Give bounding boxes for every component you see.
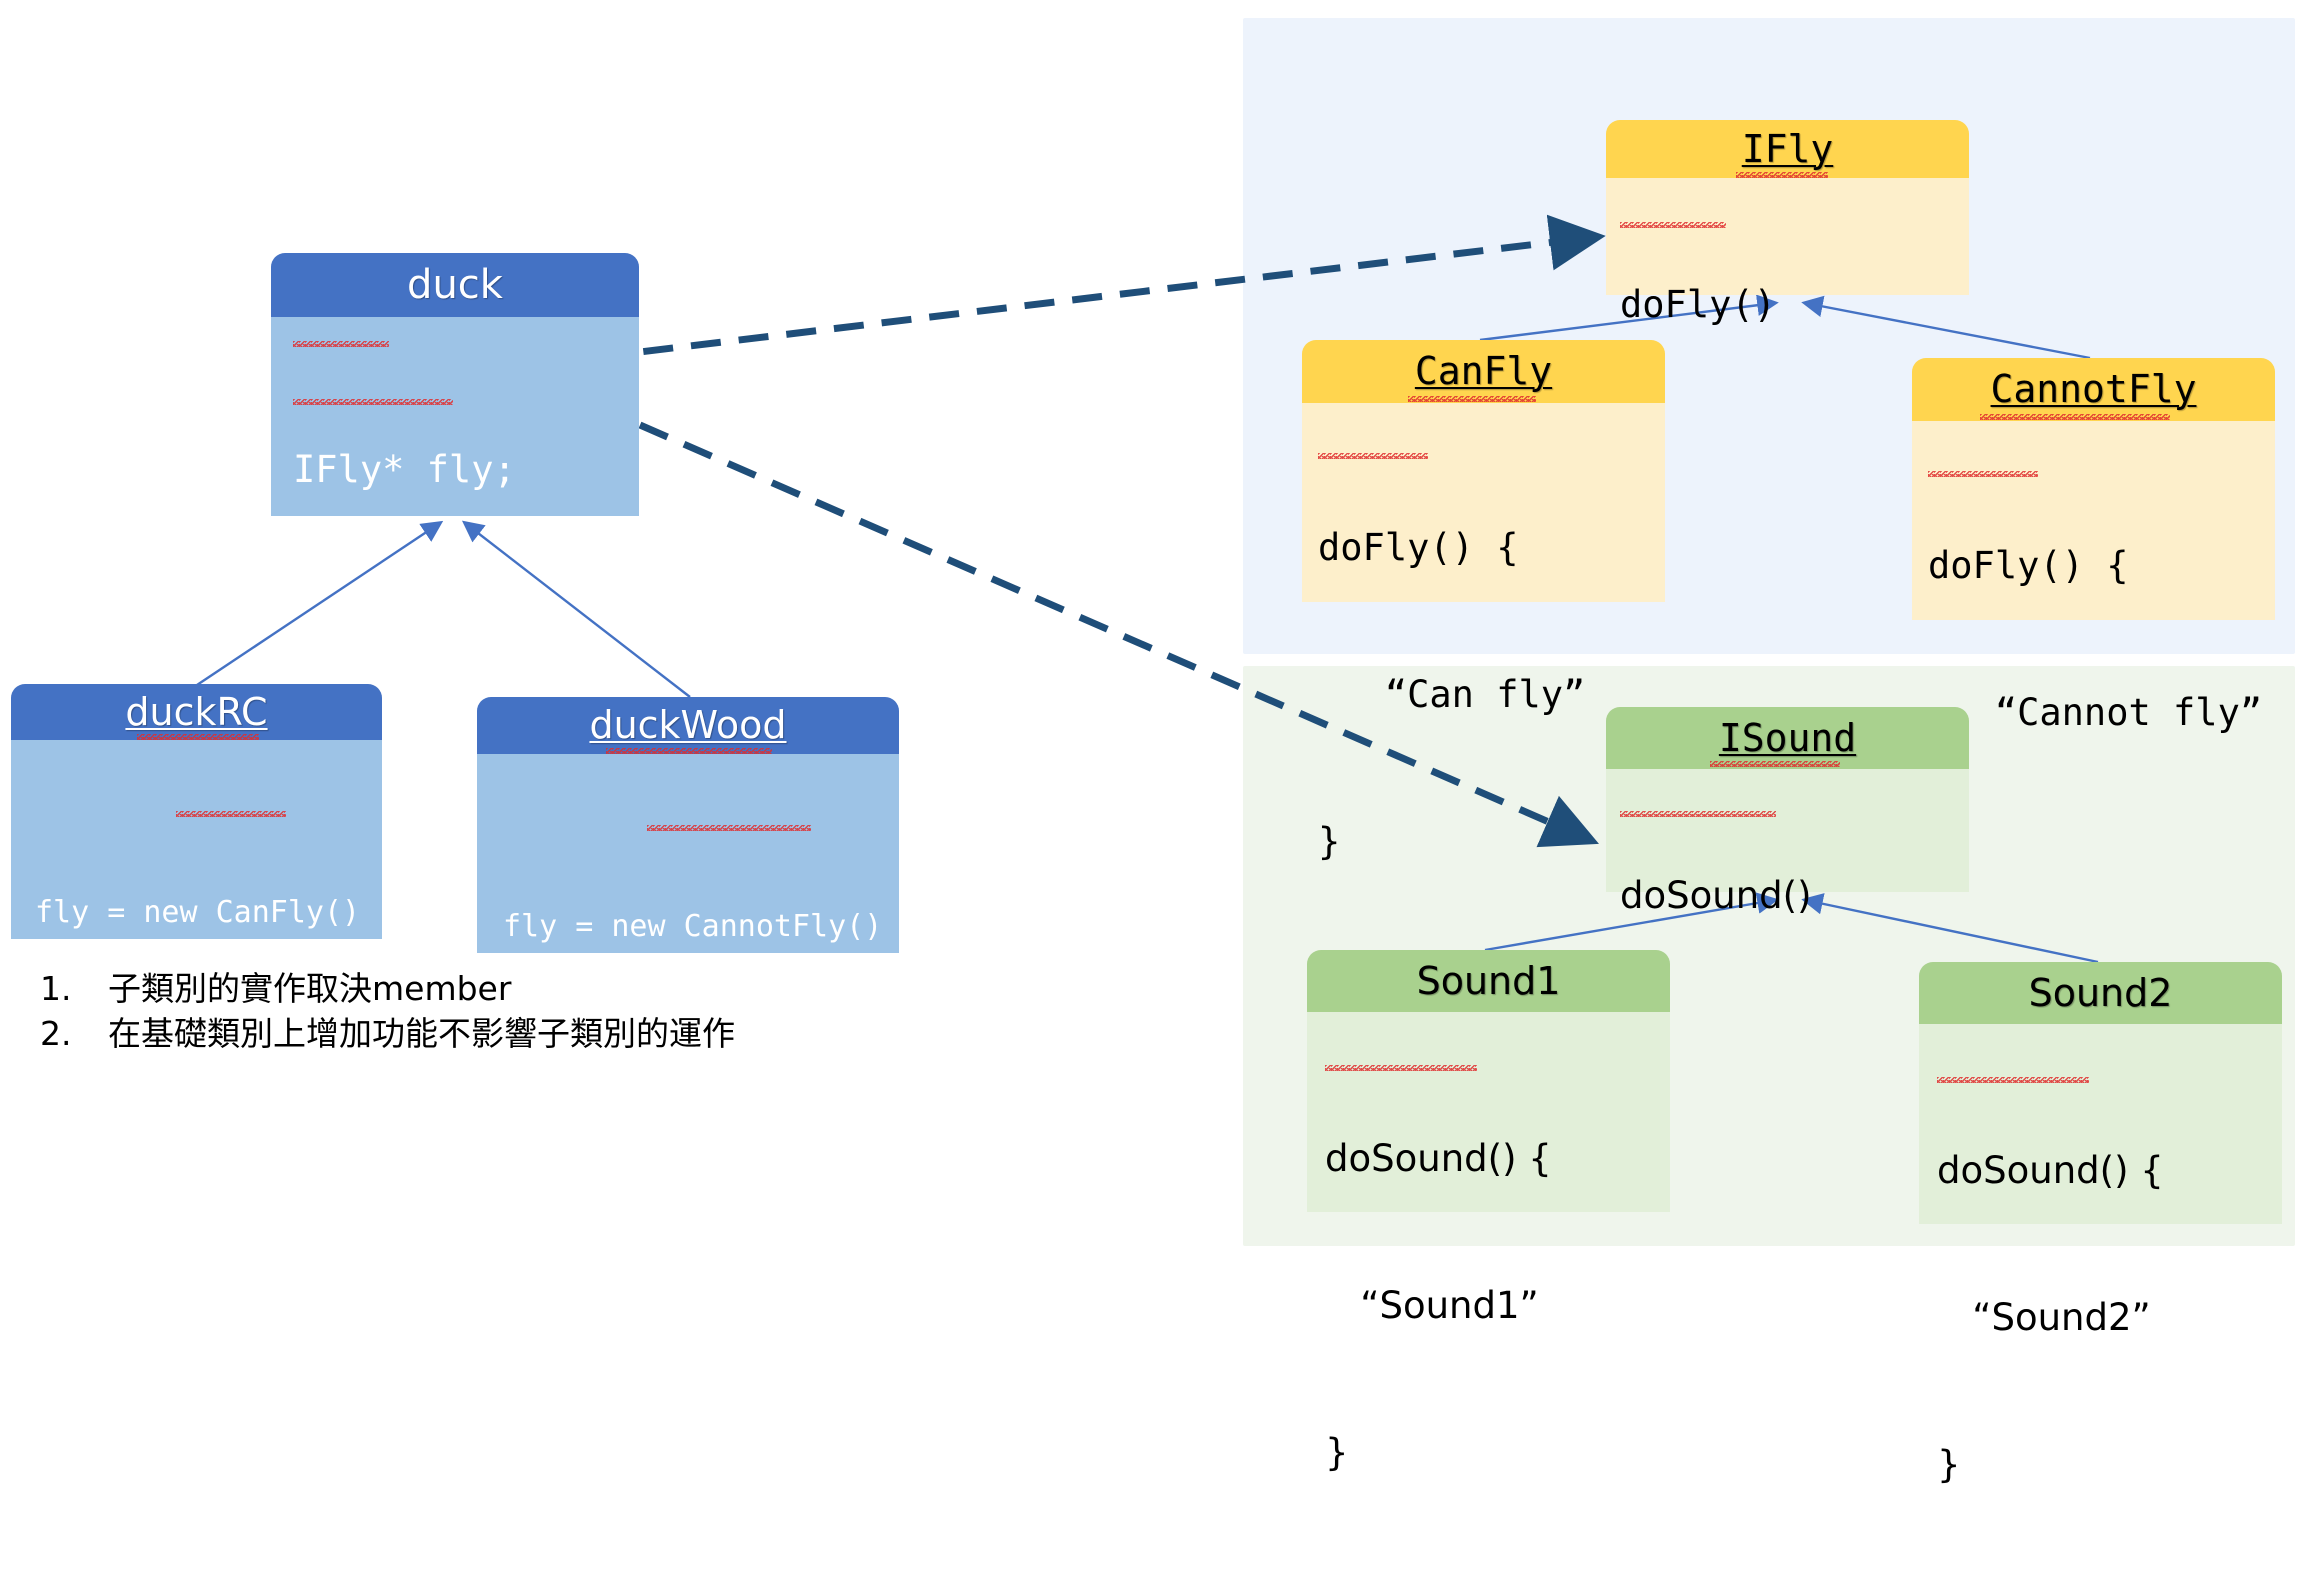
ifly-method-dofly: doFly() (1620, 282, 1969, 328)
class-title-cannotfly: CannotFly (1912, 358, 2275, 421)
note-text-1: 子類別的實作取決member (108, 966, 511, 1011)
class-body-sound1: doSound() { “Sound1” } (1307, 1012, 1670, 1212)
class-body-ifly: doFly() … (1606, 178, 1969, 295)
class-body-isound: doSound() … (1606, 769, 1969, 892)
spellcheck-squiggle-cannotfly-dofly (1928, 471, 2038, 477)
duck-member-fly: IFly* fly; (293, 441, 639, 499)
notes-list: 1. 子類別的實作取決member 2. 在基礎類別上增加功能不影響子類別的運作 (40, 966, 860, 1056)
spellcheck-squiggle-sound2-dosound (1937, 1077, 2089, 1083)
spellcheck-squiggle-cannotfly-title (1980, 414, 2170, 420)
class-body-cannotfly: doFly() { “Cannot fly” } (1912, 421, 2275, 620)
diagram-canvas: duck IFly* fly; Isound* sound; … duckRC … (0, 0, 2318, 1258)
class-box-duckrc[interactable]: duckRC fly = new CanFly() (11, 684, 382, 939)
spellcheck-squiggle-isound (293, 399, 453, 405)
class-title-duckrc: duckRC (11, 684, 382, 740)
class-body-sound2: doSound() { “Sound2” } (1919, 1024, 2282, 1224)
sound1-method-open: doSound() { (1325, 1134, 1670, 1183)
sound2-method-open: doSound() { (1937, 1146, 2282, 1195)
class-title-duck: duck (271, 253, 639, 317)
note-text-2: 在基礎類別上增加功能不影響子類別的運作 (108, 1011, 735, 1056)
spellcheck-squiggle-canfly-dofly (1318, 453, 1428, 459)
class-title-duckwood: duckWood (477, 697, 899, 754)
sound2-method-close: } (1937, 1440, 2282, 1489)
class-body-duckrc: fly = new CanFly() (11, 740, 382, 939)
class-title-ifly: IFly (1606, 120, 1969, 178)
class-box-cannotfly[interactable]: CannotFly doFly() { “Cannot fly” } (1912, 358, 2275, 620)
note-number-2: 2. (40, 1011, 108, 1056)
list-item: 2. 在基礎類別上增加功能不影響子類別的運作 (40, 1011, 860, 1056)
class-box-duckwood[interactable]: duckWood fly = new CannotFly() (477, 697, 899, 953)
note-number-1: 1. (40, 966, 108, 1011)
spellcheck-squiggle-sound1-dosound (1325, 1065, 1477, 1071)
cannotfly-method-close: } (1928, 835, 2275, 884)
isound-ellipsis: … (1620, 1011, 1969, 1053)
duck-member-sound: Isound* sound; (293, 615, 639, 673)
sound1-method-literal: “Sound1” (1325, 1281, 1670, 1330)
spellcheck-squiggle-ifly-title (1736, 172, 1828, 178)
spellcheck-squiggle-duckrc-title (137, 734, 259, 740)
canfly-method-open: doFly() { (1318, 523, 1665, 572)
class-title-sound1: Sound1 (1307, 950, 1670, 1012)
spellcheck-squiggle-canfly-ref (176, 811, 286, 817)
spellcheck-squiggle-ifly (293, 341, 389, 347)
class-box-ifly[interactable]: IFly doFly() … (1606, 120, 1969, 295)
spellcheck-squiggle-isound-dosound (1620, 811, 1776, 817)
class-title-sound2: Sound2 (1919, 962, 2282, 1024)
duckwood-statement: fly = new CannotFly() (503, 908, 899, 946)
class-title-canfly: CanFly (1302, 340, 1665, 403)
class-box-canfly[interactable]: CanFly doFly() { “Can fly” } (1302, 340, 1665, 602)
spellcheck-squiggle-duckwood-title (606, 748, 772, 754)
sound1-method-close: } (1325, 1428, 1670, 1477)
class-box-sound1[interactable]: Sound1 doSound() { “Sound1” } (1307, 950, 1670, 1212)
class-box-sound2[interactable]: Sound2 doSound() { “Sound2” } (1919, 962, 2282, 1224)
isound-method-dosound: doSound() (1620, 873, 1969, 919)
spellcheck-squiggle-isound-title (1710, 761, 1840, 767)
spellcheck-squiggle-canfly-title (1408, 396, 1536, 402)
class-title-isound: ISound (1606, 707, 1969, 769)
class-box-isound[interactable]: ISound doSound() … (1606, 707, 1969, 892)
spellcheck-squiggle-cannotfly-ref (647, 825, 811, 831)
cannotfly-method-open: doFly() { (1928, 541, 2275, 590)
class-box-duck[interactable]: duck IFly* fly; Isound* sound; … (271, 253, 639, 516)
class-body-canfly: doFly() { “Can fly” } (1302, 403, 1665, 602)
cannotfly-method-literal: “Cannot fly” (1928, 688, 2275, 737)
duckrc-statement: fly = new CanFly() (35, 894, 382, 932)
spellcheck-squiggle-ifly-dofly (1620, 222, 1726, 228)
sound2-method-literal: “Sound2” (1937, 1293, 2282, 1342)
class-body-duckwood: fly = new CannotFly() (477, 754, 899, 953)
list-item: 1. 子類別的實作取決member (40, 966, 860, 1011)
